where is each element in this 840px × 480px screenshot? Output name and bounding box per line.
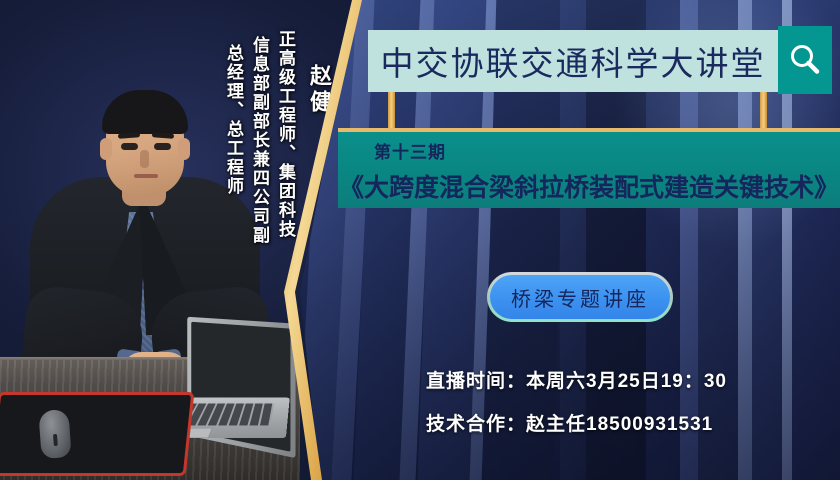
- contact-text: 技术合作：赵主任18500931531: [426, 409, 713, 436]
- webinar-poster: 赵健 正高级工程师、集团科技 信息部副部长兼四公司副 总经理、总工程师: [0, 0, 840, 480]
- computer-mouse: [38, 409, 71, 459]
- live-time-text: 直播时间：本周六3月25日19：30: [426, 366, 727, 393]
- eye-right: [154, 143, 171, 150]
- nose: [140, 150, 149, 168]
- hair: [102, 90, 188, 134]
- ear-left: [100, 138, 112, 160]
- topic-button-inner: 桥梁专题讲座: [490, 275, 670, 319]
- ear-right: [178, 138, 190, 160]
- search-button[interactable]: [778, 26, 832, 94]
- session-subject: 《大跨度混合梁斜拉桥装配式建造关键技术》: [338, 168, 840, 204]
- session-banner: 第十三期 《大跨度混合梁斜拉桥装配式建造关键技术》: [338, 128, 840, 208]
- speaker-credential-line-3: 总经理、总工程师: [225, 44, 242, 196]
- page-title: 中交协联交通科学大讲堂: [381, 37, 766, 85]
- topic-button-label: 桥梁专题讲座: [511, 283, 649, 312]
- issue-number: 第十三期: [374, 138, 840, 163]
- mousepad: [0, 392, 194, 476]
- speaker-credential-line-1: 正高级工程师、集团科技: [277, 30, 294, 239]
- speaker-credential-line-2: 信息部副部长兼四公司副: [251, 36, 268, 245]
- header-bar: 中交协联交通科学大讲堂: [368, 30, 778, 92]
- speaker-name: 赵健: [308, 64, 330, 116]
- topic-button[interactable]: 桥梁专题讲座: [487, 272, 673, 322]
- eye-left: [121, 143, 138, 150]
- mouth: [134, 174, 158, 178]
- gold-post-right: [760, 92, 767, 130]
- search-icon: [787, 42, 823, 78]
- gold-post-left: [388, 92, 395, 130]
